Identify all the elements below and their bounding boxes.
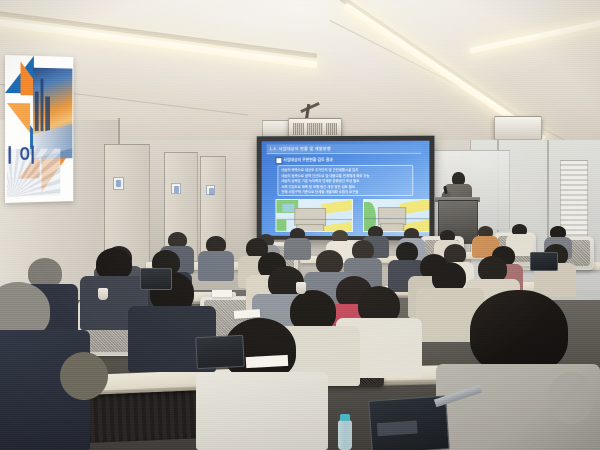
laptop[interactable] xyxy=(530,252,558,271)
ceiling-ac-unit xyxy=(494,116,542,140)
room-sign-icon xyxy=(206,185,215,195)
projection-screen: 1.4. 사업대상지 현황 및 개발방향 사업대상지 주변현황 검토 결과 대상… xyxy=(257,136,435,241)
seminar-room-photo: 1.4. 사업대상지 현황 및 개발방향 사업대상지 주변현황 검토 결과 대상… xyxy=(0,0,600,450)
water-bottle[interactable] xyxy=(338,420,352,450)
handout-papers[interactable] xyxy=(212,290,232,297)
laptop[interactable] xyxy=(140,268,172,290)
slide-bullet: 전체 사업구역 기준으로 단계별 개발계획 수립이 요구됨 xyxy=(281,190,409,196)
slide-title-text: 1.4. 사업대상지 현황 및 개발방향 xyxy=(267,144,422,153)
room-sign-icon xyxy=(171,183,181,194)
projector-lens-panel xyxy=(307,123,323,135)
presentation-slide: 1.4. 사업대상지 현황 및 개발방향 사업대상지 주변현황 검토 결과 대상… xyxy=(262,141,430,237)
laptop-screen-content xyxy=(377,420,417,436)
slide-heading: 사업대상지 주변현황 검토 결과 xyxy=(275,156,413,164)
slide-heading-text: 사업대상지 주변현황 검토 결과 xyxy=(283,156,332,164)
bottle-cap[interactable] xyxy=(340,414,350,421)
slide-title-bar: 1.4. 사업대상지 현황 및 개발방향 xyxy=(267,144,422,154)
paper-cup[interactable] xyxy=(98,288,108,300)
handout-papers[interactable] xyxy=(246,355,289,368)
slide-bullet-box: 대상지 북측으로 대규모 주거단지 및 근린생활시설 입지 대상지 동측으로 광… xyxy=(277,165,413,196)
checkbox-icon xyxy=(275,157,282,164)
poster-photo xyxy=(33,67,72,158)
poster-korean-text: ㅣ이 xyxy=(5,141,37,168)
room-sign-icon xyxy=(113,177,124,190)
wall-poster: ㅣ이 xyxy=(5,55,73,203)
projector-vent xyxy=(326,123,337,135)
paper-cup[interactable] xyxy=(296,282,306,294)
laptop[interactable] xyxy=(195,335,245,369)
projector-vent xyxy=(293,123,304,135)
site-analysis-map-left xyxy=(275,199,353,232)
